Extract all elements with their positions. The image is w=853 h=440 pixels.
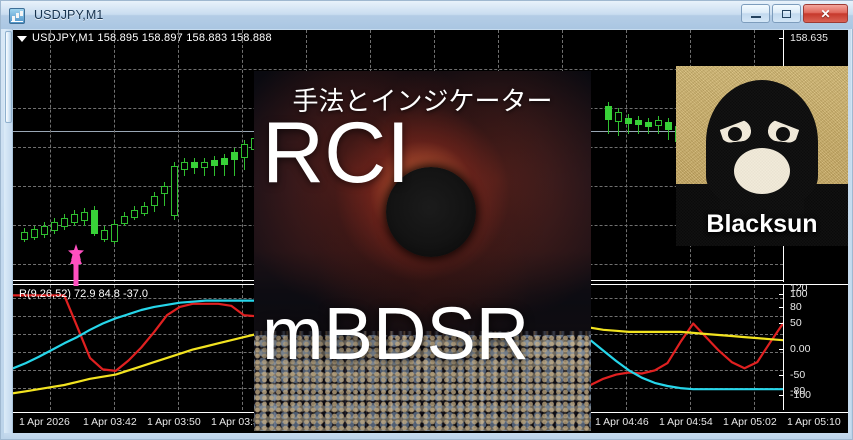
candlestick <box>645 30 652 282</box>
price-chart-canvas[interactable]: 158.635158.550158.465 12010080500.00-50-… <box>13 30 848 434</box>
avatar-pupil-right <box>776 127 790 141</box>
candle-body <box>51 222 58 231</box>
candle-body <box>211 160 218 166</box>
close-button[interactable]: ✕ <box>803 4 848 23</box>
candlestick <box>241 30 248 282</box>
candle-body <box>131 210 138 218</box>
blacksun-avatar: Blacksun <box>676 66 848 246</box>
candle-body <box>161 186 168 194</box>
candlestick <box>665 30 672 282</box>
client-area: 158.635158.550158.465 12010080500.00-50-… <box>4 29 851 438</box>
indicator-axis-tick <box>779 349 784 350</box>
indicator-axis-tick <box>779 294 784 295</box>
candle-body <box>181 162 188 170</box>
candlestick <box>211 30 218 282</box>
candle-body <box>201 162 208 168</box>
candle-body <box>625 118 632 124</box>
window-title: USDJPY,M1 <box>34 8 103 22</box>
candle-body <box>41 226 48 235</box>
candlestick <box>635 30 642 282</box>
candlestick <box>655 30 662 282</box>
candlestick <box>181 30 188 282</box>
candlestick <box>41 30 48 282</box>
chart-header[interactable]: USDJPY,M1 158.895 158.897 158.883 158.88… <box>17 32 272 44</box>
candlestick <box>231 30 238 282</box>
candle-body <box>31 229 38 238</box>
time-axis-label: 1 Apr 03:50 <box>147 416 201 428</box>
minimize-button[interactable] <box>741 4 770 23</box>
promo-overlay-image: 手法とインジケーター RCI mBDSR <box>254 71 591 431</box>
avatar-name-label: Blacksun <box>676 210 848 239</box>
maximize-button[interactable] <box>772 4 801 23</box>
minimize-icon <box>751 16 761 18</box>
candlestick <box>221 30 228 282</box>
time-axis-label: 1 Apr 2026 <box>19 416 70 428</box>
candlestick <box>625 30 632 282</box>
candlestick <box>191 30 198 282</box>
indicator-axis: 12010080500.00-50-80-100 <box>783 285 848 410</box>
candle-body <box>655 120 662 126</box>
title-bar: USDJPY,M1 ✕ <box>1 1 853 29</box>
candle-body <box>605 106 612 120</box>
candle-body <box>21 232 28 240</box>
overlay-title-top: RCI <box>262 113 410 195</box>
time-axis-label: 1 Apr 05:02 <box>723 416 777 428</box>
time-axis-label: 1 Apr 04:46 <box>595 416 649 428</box>
overlay-title-bottom: mBDSR <box>262 299 529 369</box>
time-axis-label: 1 Apr 05:10 <box>787 416 841 428</box>
candlestick <box>161 30 168 282</box>
candle-body <box>635 120 642 125</box>
buy-signal-arrow <box>63 244 89 288</box>
candlestick <box>171 30 178 282</box>
candle-body <box>665 122 672 130</box>
window-bottom-strip <box>4 433 851 438</box>
candlestick <box>121 30 128 282</box>
candle-body <box>615 112 622 122</box>
application-window: USDJPY,M1 ✕ <box>0 0 853 440</box>
candlestick <box>111 30 118 282</box>
chart-window-icon <box>9 8 25 24</box>
candle-body <box>221 158 228 165</box>
candlestick <box>201 30 208 282</box>
scrollbar-thumb[interactable] <box>5 31 12 123</box>
indicator-axis-label: -50 <box>790 369 805 381</box>
close-icon: ✕ <box>804 5 847 22</box>
indicator-axis-tick <box>779 323 784 324</box>
window-controls: ✕ <box>741 4 848 23</box>
price-axis-tick <box>779 38 784 39</box>
indicator-axis-tick <box>779 375 784 376</box>
chevron-down-icon[interactable] <box>17 36 27 42</box>
candle-body <box>151 196 158 206</box>
candlestick <box>91 30 98 282</box>
candle-wick <box>628 114 629 134</box>
candle-body <box>121 216 128 224</box>
candle-body <box>241 144 248 158</box>
candle-body <box>111 224 118 242</box>
maximize-icon <box>782 10 791 18</box>
indicator-header-label: R(9,26,52) 72.9 84.8 -37.0 <box>19 288 148 300</box>
indicator-axis-tick <box>779 307 784 308</box>
candle-body <box>101 230 108 240</box>
time-axis-label: 1 Apr 04:54 <box>659 416 713 428</box>
candle-body <box>191 162 198 168</box>
candlestick <box>51 30 58 282</box>
candlestick <box>615 30 622 282</box>
candlestick <box>21 30 28 282</box>
candle-body <box>231 152 238 160</box>
indicator-axis-label: 50 <box>790 317 802 329</box>
time-axis-label: 1 Apr 03:42 <box>83 416 137 428</box>
price-axis-label: 158.635 <box>790 32 828 44</box>
indicator-axis-tick <box>779 395 784 396</box>
chart-header-label: USDJPY,M1 158.895 158.897 158.883 158.88… <box>32 32 272 44</box>
candle-wick <box>638 116 639 134</box>
vertical-scrollbar[interactable] <box>4 29 13 433</box>
candlestick <box>141 30 148 282</box>
candlestick <box>131 30 138 282</box>
candle-wick <box>214 156 215 176</box>
candlestick <box>605 30 612 282</box>
candle-body <box>91 210 98 234</box>
avatar-pupil-left <box>728 127 742 141</box>
indicator-axis-label: 100 <box>790 288 808 300</box>
candlestick <box>101 30 108 282</box>
candle-body <box>141 206 148 214</box>
candle-body <box>645 122 652 127</box>
indicator-axis-label: 80 <box>790 301 802 313</box>
candle-body <box>71 214 78 223</box>
indicator-axis-label: 0.00 <box>790 343 810 355</box>
candle-body <box>171 166 178 216</box>
avatar-mouth <box>734 148 790 194</box>
indicator-axis-label: -100 <box>790 389 811 401</box>
candlestick <box>31 30 38 282</box>
candle-body <box>81 212 88 221</box>
candle-body <box>61 218 68 227</box>
candlestick <box>151 30 158 282</box>
